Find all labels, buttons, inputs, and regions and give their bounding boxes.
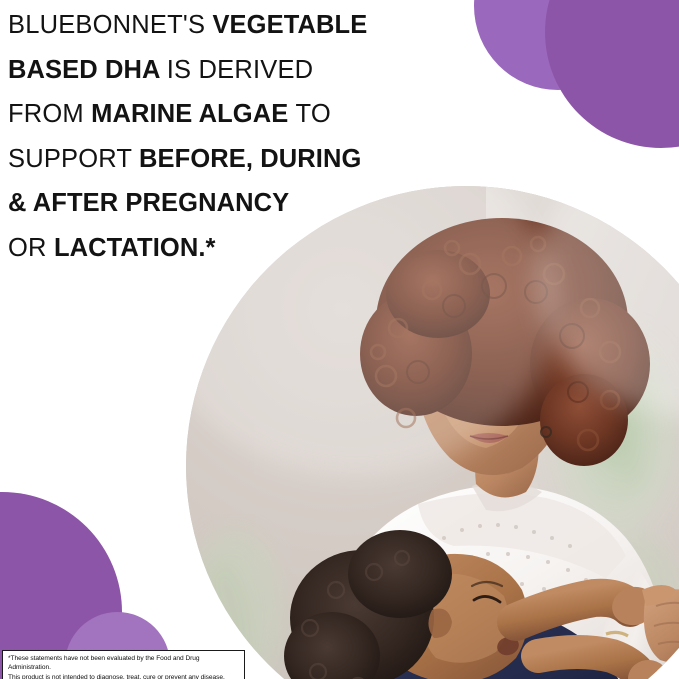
fda-disclaimer: *These statements have not been evaluate… bbox=[2, 650, 245, 679]
promotional-image: BLUEBONNET'S VEGETABLE BASED DHA IS DERI… bbox=[0, 0, 679, 679]
disclaimer-line-1: *These statements have not been evaluate… bbox=[8, 654, 240, 673]
headline-segment-3: MARINE ALGAE bbox=[91, 100, 295, 128]
disclaimer-line-2: This product is not intended to diagnose… bbox=[8, 673, 240, 679]
headline-segment-6: OR bbox=[8, 234, 54, 262]
headline-segment-7: LACTATION.* bbox=[54, 234, 216, 262]
page-title: BLUEBONNET'S VEGETABLE BASED DHA IS DERI… bbox=[8, 3, 438, 270]
purple-circle-top-right-dark bbox=[545, 0, 679, 148]
headline-segment-0: BLUEBONNET'S bbox=[8, 11, 212, 39]
